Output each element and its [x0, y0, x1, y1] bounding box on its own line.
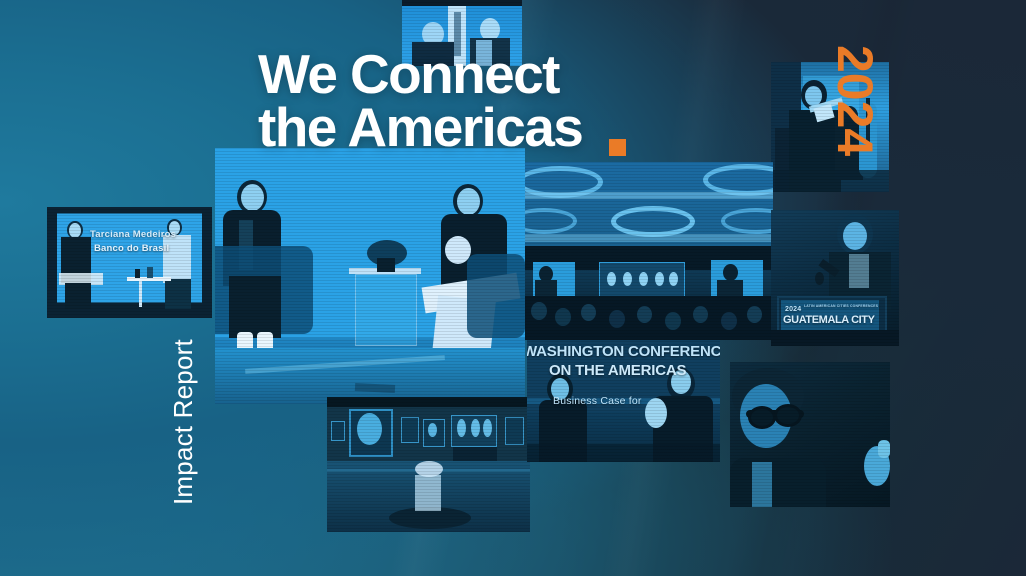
photo-main-stage-conversation — [215, 148, 525, 404]
photo-scene — [327, 397, 530, 532]
subtitle-impact-report: Impact Report — [168, 339, 199, 505]
photo-scene — [525, 162, 773, 340]
photo-banco-do-brasil-panel: Tarciana Medeiros Banco do Brasil — [47, 207, 212, 318]
photo-caption-washington-title: WASHINGTON CONFERENCE — [527, 343, 720, 360]
photo-caption-washington-subtitle: ON THE AMERICAS — [549, 362, 686, 379]
photo-scene — [730, 362, 890, 507]
orange-square-period — [609, 139, 626, 156]
photo-caption-washington-theme: Business Case for — [553, 395, 642, 407]
photo-museum-gallery — [327, 397, 530, 532]
headline-line-1: We Connect — [258, 48, 678, 101]
photo-guatemala-city-podium: 2024 LATIN AMERICAN CITIES CONFERENCES G… — [771, 210, 899, 346]
photo-conference-hall-audience — [525, 162, 773, 340]
photo-man-with-glasses-portrait — [730, 362, 890, 507]
photo-caption-guatemala-city: GUATEMALA CITY — [783, 314, 875, 326]
photo-washington-conference-panel: WASHINGTON CONFERENCE ON THE AMERICAS Bu… — [527, 340, 720, 462]
year-label: 2024 — [826, 45, 884, 205]
photo-caption-speaker-org: Banco do Brasil — [94, 243, 169, 254]
photo-caption-guatemala-conference: LATIN AMERICAN CITIES CONFERENCES — [804, 304, 878, 308]
photo-caption-guatemala-year: 2024 — [785, 306, 801, 313]
photo-caption-speaker-name: Tarciana Medeiros — [90, 229, 176, 240]
report-cover: 2024 LATIN AMERICAN CITIES CONFERENCES G… — [0, 0, 1026, 576]
photo-scene — [215, 148, 525, 404]
photo-scene — [47, 207, 212, 318]
